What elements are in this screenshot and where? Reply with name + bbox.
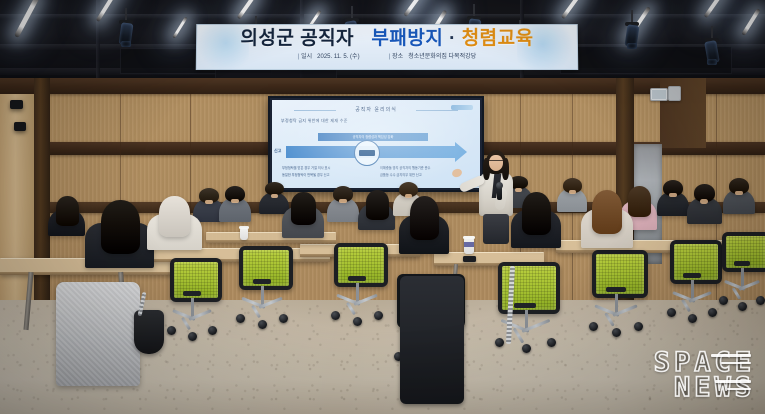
office-chair (239, 246, 285, 282)
audience-hair (56, 196, 79, 226)
draped-coat (56, 282, 140, 386)
audience-neck (669, 193, 677, 197)
chair-lumbar-support (606, 287, 625, 292)
chair-caster (331, 311, 340, 320)
chair-backrest (722, 232, 765, 272)
audience-member (586, 190, 628, 242)
audience-member (286, 192, 320, 232)
table-edge (206, 240, 336, 243)
chair-caster (258, 320, 267, 329)
audience-member (262, 182, 286, 208)
chair-caster (522, 344, 531, 353)
glasses-icon (489, 160, 503, 164)
slide-bullet: 부정청탁을 받은 경우 거절 의사 표시 (282, 166, 372, 171)
banner-title-part3: 청렴교육 (462, 28, 534, 49)
audience-member (726, 178, 752, 208)
audience-member (660, 180, 686, 210)
audience-hair (522, 192, 551, 235)
wall-speaker (10, 100, 23, 109)
chair-caster (708, 308, 717, 317)
audience-member (330, 186, 356, 216)
audience-member (52, 196, 82, 230)
cup-lid (239, 226, 249, 229)
chair-caster (719, 296, 728, 305)
wall-device-screen (652, 90, 666, 99)
projection-screen: 공직자 윤리의식 부정청탁 금지 위반에 대한 제재 수준 공직자의 청렴성과 … (268, 96, 484, 192)
chair-caster (547, 338, 556, 347)
banner-bar-glyph: | (298, 54, 300, 60)
audience-member (222, 186, 248, 216)
banner-place-label: 장소 (392, 54, 403, 60)
slide-lead-text: 부정청탁 금지 위반에 대한 제재 수준 (281, 118, 348, 124)
chair-lumbar-support (514, 303, 536, 308)
chair-base (669, 280, 715, 322)
chair-caster (738, 302, 747, 311)
chair-base (721, 268, 763, 310)
chair-lumbar-support (734, 261, 750, 266)
office-chair (498, 262, 552, 306)
banner-bar-glyph: | (389, 54, 391, 60)
chair-caster (612, 328, 621, 337)
chair-base (169, 298, 215, 340)
audience-member (92, 200, 148, 262)
lecture-photo: 공직자 윤리의식 부정청탁 금지 위반에 대한 제재 수준 공직자의 청렴성과 … (0, 0, 765, 414)
chair-base (333, 283, 381, 325)
audience-hair (628, 186, 651, 217)
wall-mounted-sensor (668, 86, 681, 101)
audience-neck (735, 191, 743, 195)
audience-member (362, 190, 392, 224)
spotlight-lens-icon (627, 43, 637, 49)
chair-caster (589, 322, 598, 331)
coffee-cup (240, 228, 248, 240)
ceiling-light (172, 17, 187, 39)
coat-texture (56, 282, 140, 386)
audience-hair (410, 196, 439, 240)
chair-lumbar-support (683, 273, 701, 278)
banner-title: 의성군 공직자 부패방지 · 청렴교육 (197, 28, 577, 50)
audience-member (152, 196, 196, 244)
slide-left-label: 신고 (274, 148, 281, 154)
chair-caster (634, 322, 643, 331)
slide-title: 공직자 윤리의식 (272, 106, 480, 113)
chair-base (591, 294, 641, 336)
banner-place-value: 청소년문화의집 다목적강당 (408, 54, 476, 60)
audience-neck (339, 199, 347, 203)
audience-hair (592, 190, 622, 234)
wall-speaker (14, 122, 26, 131)
office-chair (670, 240, 714, 276)
chair-caster (374, 311, 383, 320)
chair-base (238, 286, 286, 328)
chair-caster (756, 296, 765, 305)
microphone-head-icon (496, 182, 503, 189)
chair-lumbar-support (348, 276, 366, 281)
chair-caster (353, 317, 362, 326)
chair-caster (495, 338, 504, 347)
audience-member (560, 178, 584, 206)
banner-title-part2: 부패방지 (371, 28, 443, 49)
chair-caster (167, 326, 176, 335)
audience-member (404, 196, 444, 248)
banner-date-value: 2025. 11. 5. (수) (317, 54, 359, 60)
chair-caster (236, 314, 245, 323)
slide-circle-glyph (359, 150, 375, 156)
office-chair (722, 232, 762, 264)
ceiling-light (741, 8, 760, 36)
slide-diagram-bar-label: 공직자의 청렴성과 책임성 강화 (318, 134, 428, 139)
audience-neck (231, 199, 239, 203)
office-chair (334, 243, 380, 279)
slide-bullet-columns: 부정청탁을 받은 경우 거절 의사 표시 동일한 부정청탁이 반복될 경우 신고… (282, 166, 470, 179)
audience-member (690, 184, 718, 218)
audience-hair (159, 196, 190, 237)
chair-caster (208, 326, 217, 335)
audience-member (516, 192, 556, 242)
slide-bullet: 동일한 부정청탁이 반복될 경우 신고 (282, 173, 372, 178)
handbag (134, 310, 164, 354)
ceiling-beam (0, 14, 765, 19)
chair-caster (188, 332, 197, 341)
audience-hair (101, 200, 140, 254)
office-chair (170, 258, 214, 294)
audience-hair (366, 190, 389, 220)
smartphone (463, 256, 476, 262)
chair-lumbar-support (183, 291, 201, 296)
slide-bullet-column-left: 부정청탁을 받은 경우 거절 의사 표시 동일한 부정청탁이 반복될 경우 신고 (282, 166, 372, 179)
banner-date-label: 일시 (301, 54, 312, 60)
event-banner: 의성군 공직자 부패방지 · 청렴교육 | 일시 2025. 11. 5. (수… (196, 24, 579, 70)
audience-hair (291, 192, 316, 225)
spotlight-lens-icon (121, 41, 131, 47)
chair-lumbar-support (253, 279, 271, 284)
spotlight-lens-icon (707, 59, 717, 65)
banner-title-separator: · (449, 28, 456, 49)
presenter-skirt (483, 214, 509, 244)
chair-caster (688, 314, 697, 323)
office-chair (592, 250, 640, 290)
audience-neck (271, 194, 278, 198)
person-dark-coat (400, 276, 464, 404)
audience-neck (700, 199, 708, 204)
chair-caster (279, 314, 288, 323)
slide-logo-icon (451, 105, 473, 110)
wall-mounted-device (650, 88, 668, 101)
banner-title-part1: 의성군 공직자 (240, 28, 354, 49)
slide-diagram-bar: 공직자의 청렴성과 책임성 강화 (318, 133, 428, 141)
projected-slide: 공직자 윤리의식 부정청탁 금지 위반에 대한 제재 수준 공직자의 청렴성과 … (272, 100, 480, 188)
audience-neck (569, 190, 576, 194)
slide-diagram-circle (354, 140, 380, 166)
chair-caster (667, 308, 676, 317)
banner-subtitle: | 일시 2025. 11. 5. (수) | 장소 청소년문화의집 다목적강당 (197, 53, 577, 62)
audience-neck (205, 200, 213, 204)
chair-base (497, 310, 554, 352)
